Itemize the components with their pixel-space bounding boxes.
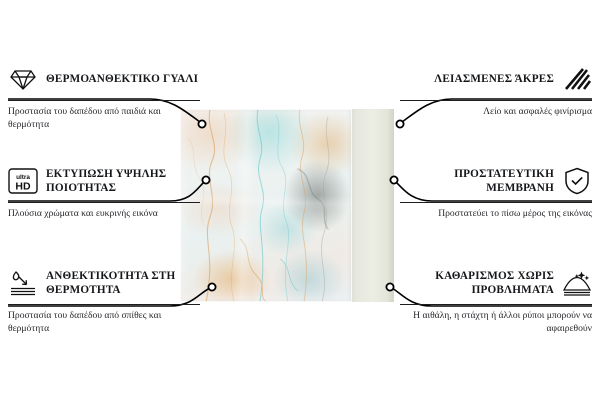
divider xyxy=(400,100,592,101)
ultra-hd-badge-icon: ultra HD xyxy=(8,166,38,196)
feature-title: ΠΡΟΣΤΑΤΕΥΤΙΚΗ ΜΕΜΒΡΑΝΗ xyxy=(400,167,554,196)
flame-heat-resistance-icon xyxy=(8,268,38,298)
product-glass-surface xyxy=(180,109,352,302)
divider xyxy=(400,304,592,305)
feature-header: ΘΕΡΜΟΑΝΘΕΚΤΙΚΟ ΓΥΑΛΙ xyxy=(8,62,200,96)
feature-polished-edges: ΛΕΙΑΣΜΕΝΕΣ ΆΚΡΕΣ Λείο και ασφαλές φινίρι… xyxy=(400,62,592,119)
ultra-hd-main-label: HD xyxy=(15,181,31,193)
feature-header: ΠΡΟΣΤΑΤΕΥΤΙΚΗ ΜΕΜΒΡΑΝΗ xyxy=(400,164,592,198)
feature-title: ΘΕΡΜΟΑΝΘΕΚΤΙΚΟ ΓΥΑΛΙ xyxy=(46,72,200,86)
feature-description: Πλούσια χρώματα και ευκρινής εικόνα xyxy=(8,208,200,221)
feature-header: ΑΝΘΕΚΤΙΚΟΤΗΤΑ ΣΤΗ ΘΕΡΜΟΤΗΤΑ xyxy=(8,266,200,300)
divider xyxy=(400,202,592,203)
feature-header: ΛΕΙΑΣΜΕΝΕΣ ΆΚΡΕΣ xyxy=(400,62,592,96)
feature-description: Προστασία του δαπέδου από παιδιά και θερ… xyxy=(8,106,200,132)
feature-high-quality-print: ultra HD ΕΚΤΥΠΩΣΗ ΥΨΗΛΗΣ ΠΟΙΟΤΗΤΑΣ Πλούσ… xyxy=(8,164,200,221)
divider xyxy=(8,100,200,101)
feature-header: ultra HD ΕΚΤΥΠΩΣΗ ΥΨΗΛΗΣ ΠΟΙΟΤΗΤΑΣ xyxy=(8,164,200,198)
feature-description: Προστατεύει το πίσω μέρος της εικόνας xyxy=(400,208,592,221)
divider xyxy=(8,202,200,203)
feature-title: ΑΝΘΕΚΤΙΚΟΤΗΤΑ ΣΤΗ ΘΕΡΜΟΤΗΤΑ xyxy=(46,269,200,298)
shield-check-icon xyxy=(562,166,592,196)
feature-protective-membrane: ΠΡΟΣΤΑΤΕΥΤΙΚΗ ΜΕΜΒΡΑΝΗ Προστατεύει το πί… xyxy=(400,164,592,221)
polished-edge-icon xyxy=(562,64,592,94)
diamond-icon xyxy=(8,64,38,94)
feature-easy-cleaning: ΚΑΘΑΡΙΣΜΟΣ ΧΩΡΙΣ ΠΡΟΒΛΗΜΑΤΑ Η αιθάλη, η … xyxy=(400,266,592,336)
infographic-stage: ΘΕΡΜΟΑΝΘΕΚΤΙΚΟ ΓΥΑΛΙ Προστασία του δαπέδ… xyxy=(0,0,600,400)
feature-title: ΕΚΤΥΠΩΣΗ ΥΨΗΛΗΣ ΠΟΙΟΤΗΤΑΣ xyxy=(46,167,200,196)
connector-dot xyxy=(396,120,403,127)
feature-description: Προστασία του δαπέδου από σπίθες και θερ… xyxy=(8,310,200,336)
feature-description: Λείο και ασφαλές φινίρισμα xyxy=(400,106,592,119)
feature-description: Η αιθάλη, η στάχτη ή άλλοι ρύποι μπορούν… xyxy=(400,310,592,336)
feature-heat-resistant-glass: ΘΕΡΜΟΑΝΘΕΚΤΙΚΟ ΓΥΑΛΙ Προστασία του δαπέδ… xyxy=(8,62,200,132)
glass-edge-highlight xyxy=(180,109,352,302)
feature-title: ΛΕΙΑΣΜΕΝΕΣ ΆΚΡΕΣ xyxy=(400,72,554,86)
feature-heat-durability: ΑΝΘΕΚΤΙΚΟΤΗΤΑ ΣΤΗ ΘΕΡΜΟΤΗΤΑ Προστασία το… xyxy=(8,266,200,336)
feature-title: ΚΑΘΑΡΙΣΜΟΣ ΧΩΡΙΣ ΠΡΟΒΛΗΜΑΤΑ xyxy=(400,269,554,298)
sponge-sparkle-icon xyxy=(562,268,592,298)
feature-header: ΚΑΘΑΡΙΣΜΟΣ ΧΩΡΙΣ ΠΡΟΒΛΗΜΑΤΑ xyxy=(400,266,592,300)
product-image xyxy=(180,109,394,302)
divider xyxy=(8,304,200,305)
product-side-panel xyxy=(348,109,394,302)
